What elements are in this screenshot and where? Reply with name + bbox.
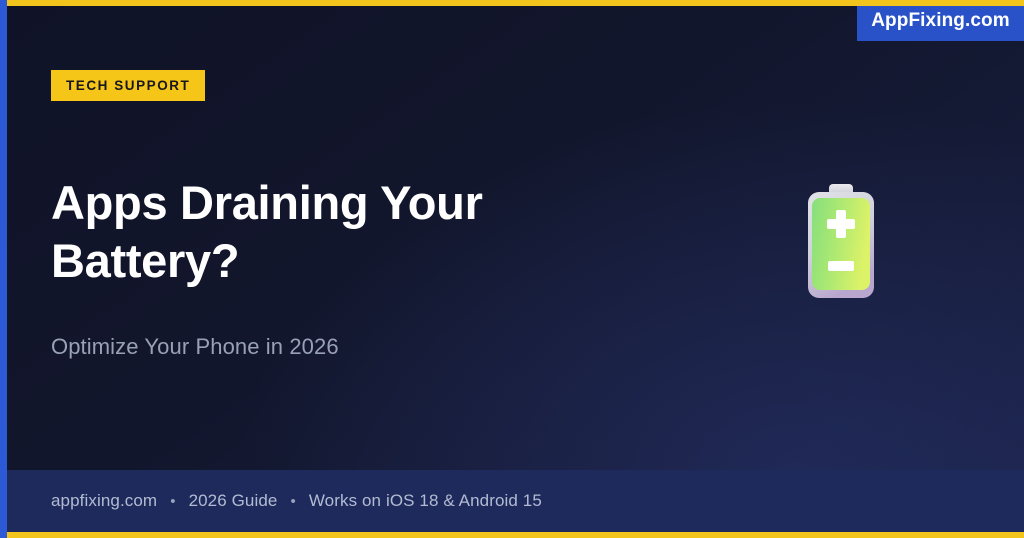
promo-card: AppFixing.com TECH SUPPORT Apps Draining… <box>0 0 1024 538</box>
category-badge: TECH SUPPORT <box>51 70 205 101</box>
brand-tag[interactable]: AppFixing.com <box>857 0 1024 41</box>
hero-content: TECH SUPPORT Apps Draining Your Battery?… <box>51 0 751 470</box>
top-accent-border <box>0 0 1024 6</box>
brand-tag-label: AppFixing.com <box>871 10 1010 32</box>
bottom-accent-border <box>0 532 1024 538</box>
footer-item-guide: 2026 Guide <box>189 491 278 511</box>
page-title: Apps Draining Your Battery? <box>51 174 521 290</box>
footer-separator: • <box>290 494 295 509</box>
page-subtitle: Optimize Your Phone in 2026 <box>51 332 339 362</box>
left-accent-border <box>0 0 7 538</box>
category-badge-label: TECH SUPPORT <box>66 79 190 93</box>
footer-item-site: appfixing.com <box>51 491 157 511</box>
footer-item-compatibility: Works on iOS 18 & Android 15 <box>309 491 542 511</box>
footer-bar: appfixing.com • 2026 Guide • Works on iO… <box>0 470 1024 532</box>
footer-separator: • <box>170 494 175 509</box>
footer-meta: appfixing.com • 2026 Guide • Works on iO… <box>51 491 542 511</box>
battery-icon <box>806 182 876 300</box>
